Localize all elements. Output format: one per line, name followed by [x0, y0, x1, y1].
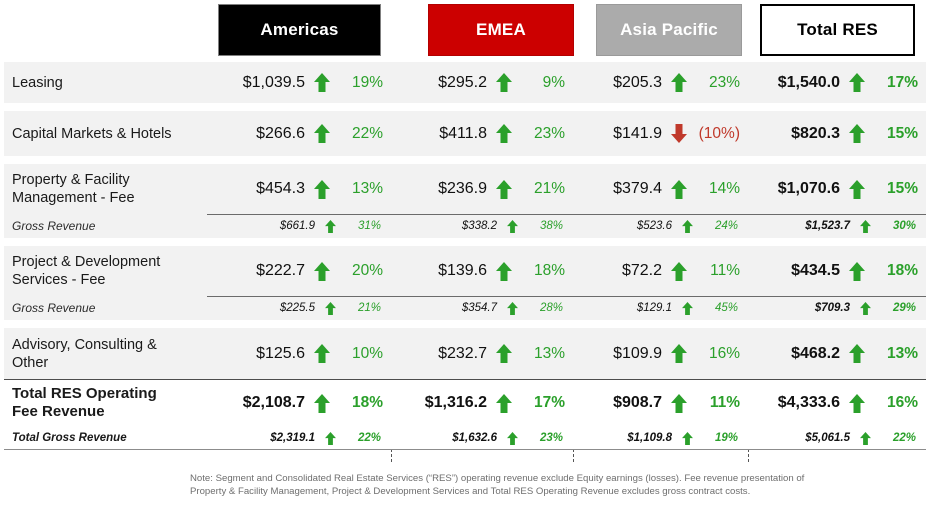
percent: 22% [339, 125, 391, 143]
cell-capital-markets-total-res: $820.3 15% [748, 111, 926, 156]
cell-total-gross-total-res: $5,061.5 22% [748, 427, 926, 449]
arrow-up-icon [497, 432, 527, 445]
arrow-up-icon [315, 302, 345, 315]
value: $236.9 [438, 180, 487, 198]
arrow-up-icon [487, 180, 521, 199]
table-row: Capital Markets & Hotels $266.6 22% $411… [4, 111, 926, 156]
value: $468.2 [791, 345, 840, 363]
cell-total-gross-americas: $2,319.1 22% [201, 427, 391, 449]
value: $1,316.2 [425, 394, 487, 412]
value: $1,039.5 [243, 74, 305, 92]
arrow-up-icon [672, 432, 702, 445]
cell-pfm-fee-emea: $236.9 21% [391, 164, 573, 214]
arrow-up-icon [850, 432, 880, 445]
arrow-up-icon [672, 220, 702, 233]
value: $5,061.5 [805, 432, 850, 444]
cell-advisory-emea: $232.7 13% [391, 328, 573, 379]
row-label-line-1: Project & Development [12, 253, 197, 271]
value: $72.2 [622, 262, 662, 280]
row-label-advisory-consulting: Advisory, Consulting & Other [4, 336, 201, 372]
footnote-line-1: Note: Segment and Consolidated Real Esta… [190, 472, 920, 485]
row-label-line-2: Management - Fee [12, 189, 197, 207]
arrow-up-icon [305, 73, 339, 92]
row-block-property-facility-management: Property & Facility Management - Fee $45… [4, 164, 926, 246]
arrow-up-icon [315, 432, 345, 445]
cell-leasing-total-res: $1,540.0 17% [748, 62, 926, 103]
table-row: Project & Development Services - Fee $22… [4, 246, 926, 296]
table-row: Leasing $1,039.5 19% $295.2 9% $205 [4, 62, 926, 103]
arrow-up-icon [840, 124, 874, 143]
row-label-gross-revenue: Gross Revenue [4, 299, 201, 317]
arrow-up-icon [305, 262, 339, 281]
subrow-separator [207, 296, 926, 297]
cell-total-fee-americas: $2,108.7 18% [201, 379, 391, 427]
arrow-up-icon [487, 262, 521, 281]
value: $709.3 [815, 302, 850, 314]
value: $2,319.1 [270, 432, 315, 444]
value: $434.5 [791, 262, 840, 280]
value: $2,108.7 [243, 394, 305, 412]
footnote-line-2: Property & Facility Management, Project … [190, 485, 920, 498]
footnote: Note: Segment and Consolidated Real Esta… [190, 472, 920, 498]
table-header: Americas EMEA Asia Pacific Total RES [0, 4, 930, 58]
percent: 13% [521, 345, 573, 363]
cell-pds-gross-total-res: $709.3 29% [748, 296, 926, 320]
percent: 18% [874, 262, 926, 280]
table-row-total-sub: Total Gross Revenue $2,319.1 22% $1,632.… [4, 427, 926, 449]
row-label-line-1: Property & Facility [12, 171, 197, 189]
percent: 17% [874, 74, 926, 92]
cell-leasing-emea: $295.2 9% [391, 62, 573, 103]
table-row-sub: Gross Revenue $661.9 31% $338.2 38% [4, 214, 926, 238]
cell-pfm-fee-asia-pacific: $379.4 14% [573, 164, 748, 214]
cell-leasing-asia-pacific: $205.3 23% [573, 62, 748, 103]
row-label-line-2: Services - Fee [12, 271, 197, 289]
cell-pds-gross-emea: $354.7 28% [391, 296, 573, 320]
percent: 19% [702, 432, 748, 444]
value: $820.3 [791, 125, 840, 143]
column-header-emea-label: EMEA [476, 20, 526, 40]
percent: 24% [702, 220, 748, 232]
arrow-up-icon [850, 220, 880, 233]
value: $295.2 [438, 74, 487, 92]
value: $1,109.8 [627, 432, 672, 444]
column-header-total-res-label: Total RES [797, 20, 878, 40]
arrow-up-icon [662, 180, 696, 199]
value: $411.8 [439, 125, 487, 143]
value: $338.2 [462, 220, 497, 232]
value: $225.5 [280, 302, 315, 314]
cell-pds-fee-total-res: $434.5 18% [748, 246, 926, 296]
percent: 21% [521, 180, 573, 198]
arrow-up-icon [305, 124, 339, 143]
arrow-down-icon [662, 124, 696, 143]
percent: 16% [874, 394, 926, 412]
percent: 19% [339, 74, 391, 92]
row-label-line-2: Fee Revenue [12, 403, 197, 421]
percent: 20% [339, 262, 391, 280]
table-row-sub: Gross Revenue $225.5 21% $354.7 28% [4, 296, 926, 320]
row-block-capital-markets: Capital Markets & Hotels $266.6 22% $411… [4, 111, 926, 164]
value: $1,523.7 [805, 220, 850, 232]
percent: 22% [345, 432, 391, 444]
percent: 18% [521, 262, 573, 280]
cell-total-gross-emea: $1,632.6 23% [391, 427, 573, 449]
cell-pfm-gross-total-res: $1,523.7 30% [748, 214, 926, 238]
cell-pds-fee-americas: $222.7 20% [201, 246, 391, 296]
revenue-summary-table: Americas EMEA Asia Pacific Total RES Lea… [0, 0, 930, 509]
arrow-up-icon [305, 344, 339, 363]
column-header-asia-pacific-label: Asia Pacific [620, 20, 718, 40]
cell-pds-gross-americas: $225.5 21% [201, 296, 391, 320]
row-gap [4, 103, 926, 111]
arrow-up-icon [840, 262, 874, 281]
arrow-up-icon [305, 180, 339, 199]
percent: 9% [521, 74, 573, 92]
cell-capital-markets-americas: $266.6 22% [201, 111, 391, 156]
cell-total-gross-asia-pacific: $1,109.8 19% [573, 427, 748, 449]
percent: 30% [880, 220, 926, 232]
value: $266.6 [256, 125, 305, 143]
table-bottom-rule-wrap [4, 449, 926, 451]
cell-capital-markets-asia-pacific: $141.9 (10%) [573, 111, 748, 156]
value: $1,540.0 [778, 74, 840, 92]
cell-capital-markets-emea: $411.8 23% [391, 111, 573, 156]
row-block-advisory-consulting: Advisory, Consulting & Other $125.6 10% … [4, 328, 926, 379]
percent: 18% [339, 394, 391, 412]
cell-pds-fee-asia-pacific: $72.2 11% [573, 246, 748, 296]
arrow-up-icon [840, 344, 874, 363]
cell-total-fee-total-res: $4,333.6 16% [748, 379, 926, 427]
cell-advisory-asia-pacific: $109.9 16% [573, 328, 748, 379]
arrow-up-icon [672, 302, 702, 315]
value: $222.7 [256, 262, 305, 280]
value: $125.6 [256, 345, 305, 363]
percent: 21% [345, 302, 391, 314]
value: $139.6 [438, 262, 487, 280]
arrow-up-icon [840, 73, 874, 92]
percent: 14% [696, 180, 748, 198]
percent: 10% [339, 345, 391, 363]
percent: 29% [880, 302, 926, 314]
percent: 16% [696, 345, 748, 363]
column-header-emea: EMEA [428, 4, 574, 56]
arrow-up-icon [315, 220, 345, 233]
percent: 15% [874, 180, 926, 198]
percent: 38% [527, 220, 573, 232]
percent: (10%) [696, 125, 748, 143]
arrow-up-icon [840, 180, 874, 199]
column-header-americas: Americas [218, 4, 381, 56]
cell-total-fee-emea: $1,316.2 17% [391, 379, 573, 427]
arrow-up-icon [840, 394, 874, 413]
percent: 15% [874, 125, 926, 143]
value: $661.9 [280, 220, 315, 232]
cell-pds-fee-emea: $139.6 18% [391, 246, 573, 296]
percent: 23% [527, 432, 573, 444]
percent: 13% [874, 345, 926, 363]
percent: 45% [702, 302, 748, 314]
percent: 13% [339, 180, 391, 198]
cell-advisory-americas: $125.6 10% [201, 328, 391, 379]
value: $232.7 [438, 345, 487, 363]
row-label-project-development-services: Project & Development Services - Fee [4, 253, 201, 289]
column-header-total-res: Total RES [760, 4, 915, 56]
value: $908.7 [613, 394, 662, 412]
row-block-total-res-operating-fee-revenue: Total RES Operating Fee Revenue $2,108.7… [4, 379, 926, 451]
table-body: Leasing $1,039.5 19% $295.2 9% $205 [4, 62, 926, 451]
row-label-total-res-operating-fee-revenue: Total RES Operating Fee Revenue [4, 385, 201, 421]
cell-advisory-total-res: $468.2 13% [748, 328, 926, 379]
arrow-up-icon [487, 73, 521, 92]
arrow-up-icon [497, 302, 527, 315]
percent: 17% [521, 394, 573, 412]
percent: 23% [521, 125, 573, 143]
row-label-leasing: Leasing [4, 74, 201, 92]
value: $1,632.6 [452, 432, 497, 444]
total-separator-top [4, 379, 926, 380]
value: $205.3 [613, 74, 662, 92]
arrow-up-icon [662, 394, 696, 413]
table-row: Advisory, Consulting & Other $125.6 10% … [4, 328, 926, 379]
table-row-total: Total RES Operating Fee Revenue $2,108.7… [4, 379, 926, 427]
percent: 31% [345, 220, 391, 232]
row-label-property-facility-management: Property & Facility Management - Fee [4, 171, 201, 207]
column-header-americas-label: Americas [260, 20, 338, 40]
cell-total-fee-asia-pacific: $908.7 11% [573, 379, 748, 427]
table-bottom-rule [4, 449, 926, 450]
row-block-project-development-services: Project & Development Services - Fee $22… [4, 246, 926, 328]
subrow-separator [207, 214, 926, 215]
value: $454.3 [256, 180, 305, 198]
arrow-up-icon [497, 220, 527, 233]
row-label-gross-revenue: Gross Revenue [4, 217, 201, 235]
row-gap [4, 320, 926, 328]
percent: 23% [696, 74, 748, 92]
value: $109.9 [613, 345, 662, 363]
arrow-up-icon [305, 394, 339, 413]
value: $354.7 [462, 302, 497, 314]
arrow-up-icon [487, 124, 521, 143]
cell-pfm-fee-total-res: $1,070.6 15% [748, 164, 926, 214]
arrow-up-icon [662, 73, 696, 92]
row-gap [4, 238, 926, 246]
cell-pfm-gross-americas: $661.9 31% [201, 214, 391, 238]
arrow-up-icon [487, 394, 521, 413]
row-label-line-1: Total RES Operating [12, 385, 197, 403]
value: $141.9 [613, 125, 662, 143]
value: $379.4 [613, 180, 662, 198]
cell-pds-gross-asia-pacific: $129.1 45% [573, 296, 748, 320]
arrow-up-icon [850, 302, 880, 315]
row-block-leasing: Leasing $1,039.5 19% $295.2 9% $205 [4, 62, 926, 111]
table-row: Property & Facility Management - Fee $45… [4, 164, 926, 214]
value: $129.1 [637, 302, 672, 314]
percent: 11% [696, 262, 748, 280]
value: $4,333.6 [778, 394, 840, 412]
row-label-total-gross-revenue: Total Gross Revenue [4, 429, 201, 447]
cell-pfm-gross-asia-pacific: $523.6 24% [573, 214, 748, 238]
cell-pfm-fee-americas: $454.3 13% [201, 164, 391, 214]
percent: 22% [880, 432, 926, 444]
value: $523.6 [637, 220, 672, 232]
arrow-up-icon [487, 344, 521, 363]
percent: 11% [696, 394, 748, 412]
value: $1,070.6 [778, 180, 840, 198]
column-header-asia-pacific: Asia Pacific [596, 4, 742, 56]
arrow-up-icon [662, 344, 696, 363]
percent: 28% [527, 302, 573, 314]
arrow-up-icon [662, 262, 696, 281]
row-gap [4, 156, 926, 164]
cell-leasing-americas: $1,039.5 19% [201, 62, 391, 103]
row-label-line-1: Advisory, Consulting & [12, 336, 197, 354]
row-label-capital-markets: Capital Markets & Hotels [4, 125, 201, 143]
row-label-line-2: Other [12, 354, 197, 372]
cell-pfm-gross-emea: $338.2 38% [391, 214, 573, 238]
